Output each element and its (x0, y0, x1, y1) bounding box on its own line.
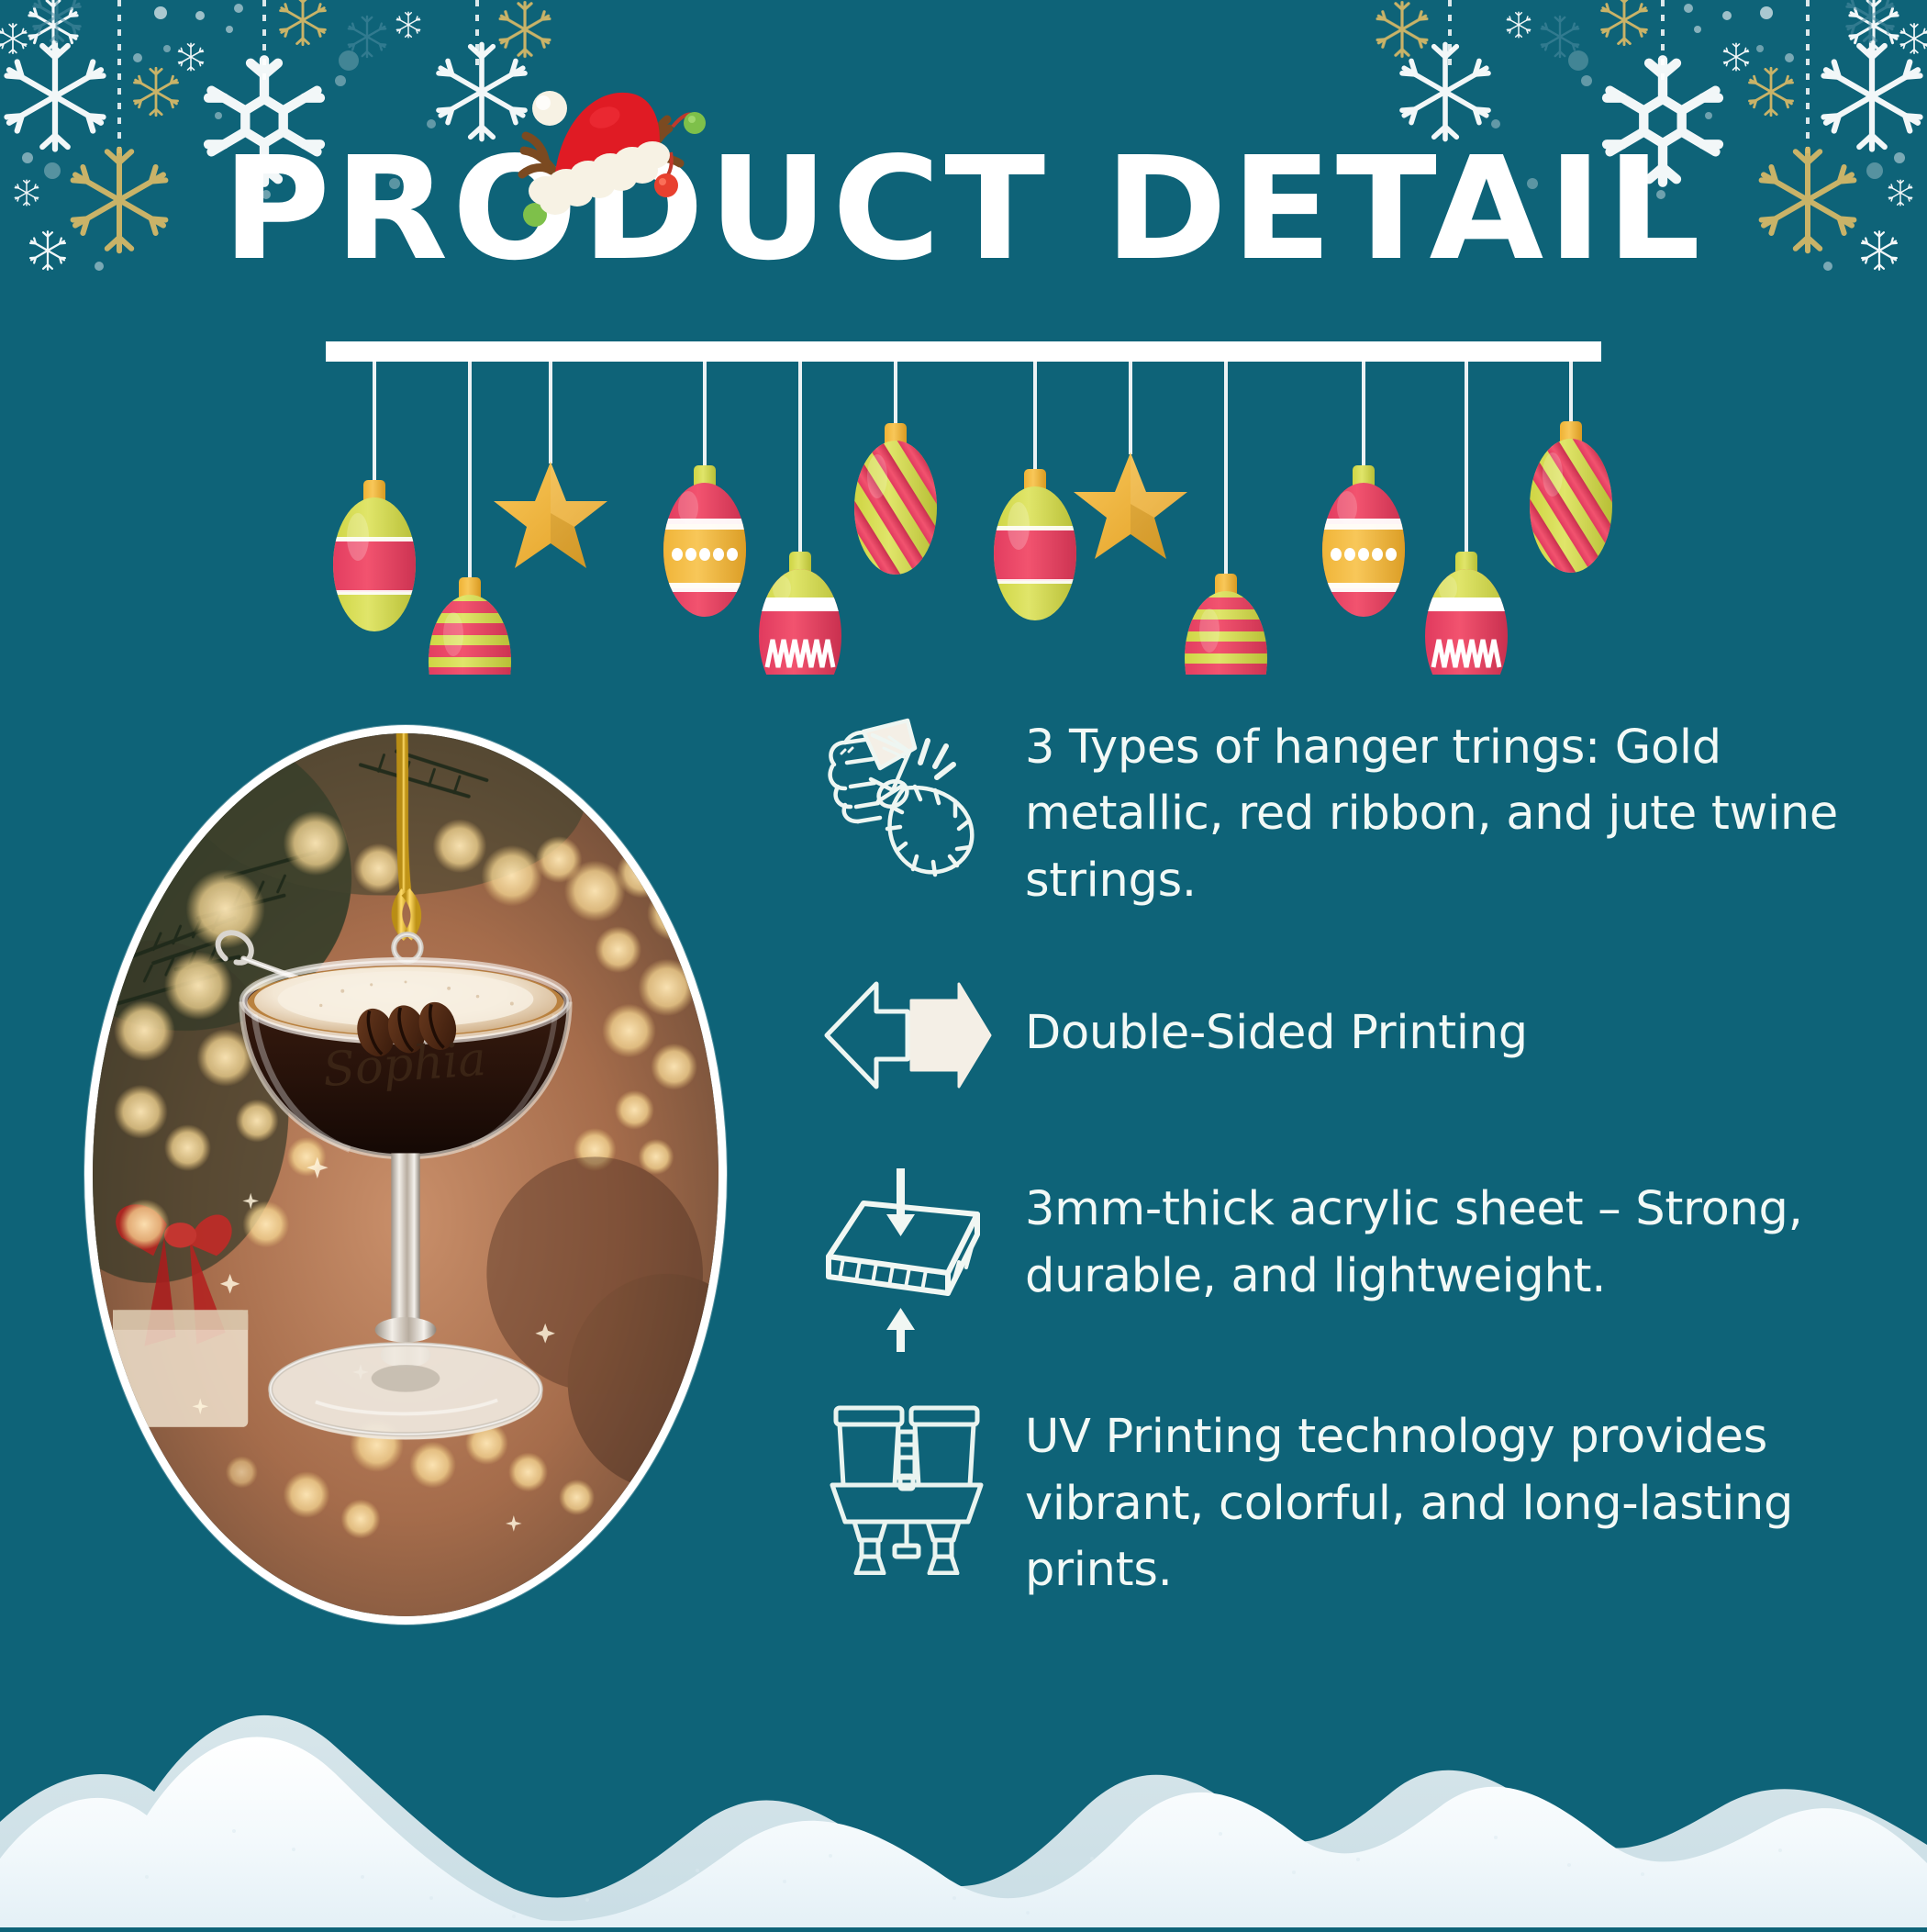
double-sided-arrows-icon (808, 967, 1005, 1105)
feature-item: 3mm-thick acrylic sheet – Strong, durabl… (808, 1173, 1890, 1347)
page-title: PRODUCT DETAIL (222, 138, 1704, 280)
feature-text: Double-Sided Printing (1005, 967, 1890, 1067)
feature-text: 3mm-thick acrylic sheet – Strong, durabl… (1005, 1173, 1890, 1310)
feature-list: 3 Types of hanger trings: Gold metallic,… (808, 711, 1890, 1657)
binoculars-icon (808, 1401, 1005, 1575)
ornament-garland (0, 326, 1927, 675)
feature-text: 3 Types of hanger trings: Gold metallic,… (1005, 711, 1890, 914)
acrylic-sheet-thickness-icon (808, 1173, 1005, 1347)
santa-hat-antlers-icon (509, 62, 711, 232)
feature-item: UV Printing technology provides vibrant,… (808, 1401, 1890, 1603)
feature-text: UV Printing technology provides vibrant,… (1005, 1401, 1890, 1603)
hand-pulling-string-icon (808, 711, 1005, 886)
feature-item: 3 Types of hanger trings: Gold metallic,… (808, 711, 1890, 914)
snow-drift (0, 1652, 1927, 1927)
feature-item: Double-Sided Printing (808, 967, 1890, 1105)
personalized-name: Sophia (321, 1033, 488, 1098)
garland-bar (326, 341, 1601, 362)
garland-ornaments (329, 378, 1701, 675)
page-header: PRODUCT DETAIL (0, 138, 1927, 280)
product-image: Sophia (84, 725, 727, 1625)
